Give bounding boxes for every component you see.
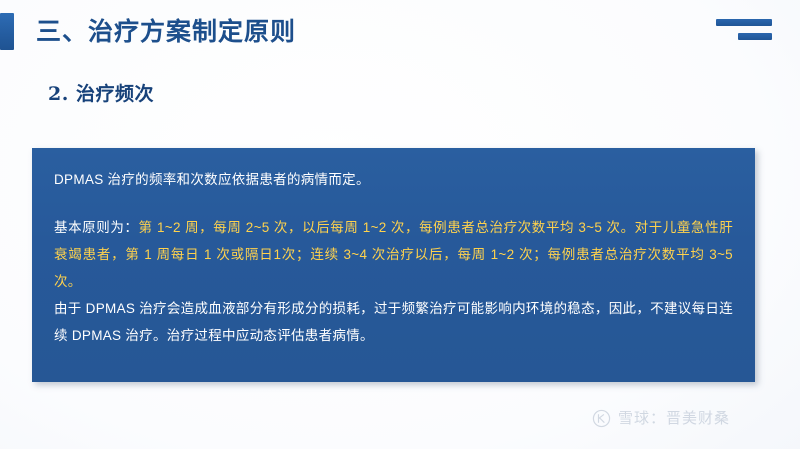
- content-card: DPMAS 治疗的频率和次数应依据患者的病情而定。 基本原则为：第 1~2 周，…: [32, 148, 755, 382]
- paragraph-caution: 由于 DPMAS 治疗会造成血液部分有形成分的损耗，过于频繁治疗可能影响内环境的…: [54, 295, 733, 349]
- slide-canvas: 三、治疗方案制定原则 2. 治疗频次 DPMAS 治疗的频率和次数应依据患者的病…: [0, 0, 800, 449]
- page-title: 三、治疗方案制定原则: [36, 15, 296, 49]
- paragraph-rules: 基本原则为：第 1~2 周，每周 2~5 次，以后每周 1~2 次，每例患者总治…: [54, 214, 733, 295]
- title-accent-bar: [0, 13, 14, 50]
- caution-text: 由于 DPMAS 治疗会造成血液部分有形成分的损耗，过于频繁治疗可能影响内环境的…: [54, 301, 733, 343]
- rules-highlight-primary: 第 1~2 周，每周 2~5 次，以后每周 1~2 次，每例患者总治疗次数平均 …: [139, 220, 635, 235]
- section-subtitle: 2. 治疗频次: [48, 81, 154, 107]
- deco-bar-long-icon: [716, 19, 772, 26]
- xueqiu-logo-icon: [592, 409, 611, 428]
- paragraph-lead: DPMAS 治疗的频率和次数应依据患者的病情而定。: [54, 166, 733, 193]
- watermark-text: 雪球：晋美财桑: [618, 409, 730, 428]
- header-decoration: [716, 19, 772, 45]
- watermark: 雪球：晋美财桑: [592, 409, 730, 428]
- rules-prefix-text: 基本原则为：: [54, 220, 139, 235]
- lead-text: DPMAS 治疗的频率和次数应依据患者的病情而定。: [54, 172, 370, 187]
- deco-bar-short-icon: [738, 33, 772, 40]
